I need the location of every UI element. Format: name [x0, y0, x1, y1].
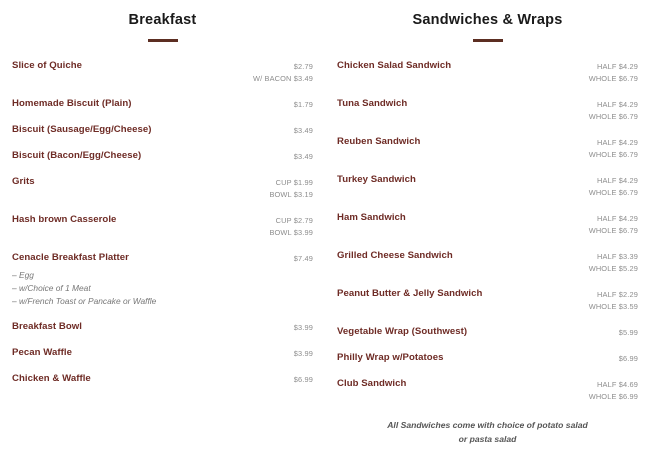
menu-item-price: HALF $4.29	[589, 61, 638, 73]
menu-item-name: Vegetable Wrap (Southwest)	[337, 326, 611, 338]
menu-item: Breakfast Bowl$3.99	[12, 321, 313, 334]
menu-item-price: HALF $4.29	[589, 175, 638, 187]
menu-item-name: Club Sandwich	[337, 378, 581, 390]
menu-item: Biscuit (Sausage/Egg/Cheese)$3.49	[12, 124, 313, 137]
menu-item-price: WHOLE $6.79	[589, 187, 638, 199]
menu-item-price: WHOLE $3.59	[589, 301, 638, 313]
menu-item-name: Chicken & Waffle	[12, 373, 286, 385]
menu-item-price: BOWL $3.19	[269, 189, 313, 201]
section-footer-note-line: All Sandwiches come with choice of potat…	[359, 419, 616, 433]
menu-item-name: Slice of Quiche	[12, 60, 245, 72]
menu-item-price: $2.79	[253, 61, 313, 73]
menu-item-price-block: $6.99	[294, 373, 313, 386]
menu-item: Homemade Biscuit (Plain)$1.79	[12, 98, 313, 111]
menu-item-main: Grits	[12, 176, 269, 188]
menu-item-price-block: $7.49	[294, 252, 313, 265]
section-footer-note: All Sandwiches come with choice of potat…	[337, 419, 638, 447]
menu-item-price-block: $2.79W/ BACON $3.49	[253, 60, 313, 85]
section-header: Sandwiches & Wraps	[337, 0, 638, 42]
menu-item-price: $5.99	[619, 327, 638, 339]
menu-item-price-block: $3.99	[294, 321, 313, 334]
menu-item: Cenacle Breakfast Platter– Egg– w/Choice…	[12, 252, 313, 308]
menu-item-price: $3.49	[294, 151, 313, 163]
menu-item-note: – w/French Toast or Pancake or Waffle	[12, 295, 286, 308]
menu-item: Tuna SandwichHALF $4.29WHOLE $6.79	[337, 98, 638, 123]
menu-item: Ham SandwichHALF $4.29WHOLE $6.79	[337, 212, 638, 237]
menu-item-price: $3.99	[294, 322, 313, 334]
menu-item: GritsCUP $1.99BOWL $3.19	[12, 176, 313, 201]
menu-item-main: Grilled Cheese Sandwich	[337, 250, 589, 262]
menu-item-price: WHOLE $6.99	[589, 391, 638, 403]
menu-item-price: $6.99	[619, 353, 638, 365]
menu-item-main: Ham Sandwich	[337, 212, 589, 224]
section-header: Breakfast	[12, 0, 313, 42]
menu-item-main: Tuna Sandwich	[337, 98, 589, 110]
menu-item-name: Biscuit (Bacon/Egg/Cheese)	[12, 150, 286, 162]
menu-item-price-block: $3.99	[294, 347, 313, 360]
menu-item-main: Chicken Salad Sandwich	[337, 60, 589, 72]
menu-item-name: Pecan Waffle	[12, 347, 286, 359]
menu-item-list: Slice of Quiche$2.79W/ BACON $3.49Homema…	[12, 60, 313, 386]
section-title: Breakfast	[12, 12, 313, 29]
menu-item-name: Turkey Sandwich	[337, 174, 581, 186]
menu-item-main: Turkey Sandwich	[337, 174, 589, 186]
menu-item-price: $3.49	[294, 125, 313, 137]
menu-item: Philly Wrap w/Potatoes$6.99	[337, 352, 638, 365]
menu-item-price: W/ BACON $3.49	[253, 73, 313, 85]
menu-item-price-block: HALF $4.29WHOLE $6.79	[589, 212, 638, 237]
menu-item-price-block: HALF $4.29WHOLE $6.79	[589, 60, 638, 85]
menu-item-main: Reuben Sandwich	[337, 136, 589, 148]
menu-item-price: WHOLE $6.79	[589, 225, 638, 237]
menu-item: Reuben SandwichHALF $4.29WHOLE $6.79	[337, 136, 638, 161]
menu-item-price: BOWL $3.99	[269, 227, 313, 239]
menu-item-price-block: $5.99	[619, 326, 638, 339]
menu-item-price: $1.79	[294, 99, 313, 111]
menu-item-main: Cenacle Breakfast Platter– Egg– w/Choice…	[12, 252, 294, 308]
menu-item-name: Grits	[12, 176, 261, 188]
menu-item-price-block: HALF $4.29WHOLE $6.79	[589, 174, 638, 199]
menu-item-price: HALF $3.39	[589, 251, 638, 263]
menu-item-price: $6.99	[294, 374, 313, 386]
menu-item-main: Hash brown Casserole	[12, 214, 269, 226]
menu-item-name: Cenacle Breakfast Platter	[12, 252, 286, 264]
section-divider-rule	[148, 39, 178, 42]
menu-item-note: – w/Choice of 1 Meat	[12, 282, 286, 295]
menu-item-price: HALF $4.29	[589, 137, 638, 149]
menu-item-main: Vegetable Wrap (Southwest)	[337, 326, 619, 338]
menu-item-main: Biscuit (Bacon/Egg/Cheese)	[12, 150, 294, 162]
menu-item: Vegetable Wrap (Southwest)$5.99	[337, 326, 638, 339]
menu-item-price: WHOLE $6.79	[589, 149, 638, 161]
menu-item-name: Philly Wrap w/Potatoes	[337, 352, 611, 364]
menu-item: Biscuit (Bacon/Egg/Cheese)$3.49	[12, 150, 313, 163]
menu-item: Pecan Waffle$3.99	[12, 347, 313, 360]
menu-column: BreakfastSlice of Quiche$2.79W/ BACON $3…	[0, 0, 325, 449]
menu-item-price: HALF $4.29	[589, 99, 638, 111]
menu-item-price: HALF $4.29	[589, 213, 638, 225]
section-footer-note-line: or pasta salad	[359, 433, 616, 447]
menu-item-price: WHOLE $6.79	[589, 111, 638, 123]
menu-item-price: $7.49	[294, 253, 313, 265]
menu-item-price: HALF $2.29	[589, 289, 638, 301]
menu-item-notes: – Egg– w/Choice of 1 Meat– w/French Toas…	[12, 269, 286, 308]
menu-item-main: Pecan Waffle	[12, 347, 294, 359]
menu-item-name: Tuna Sandwich	[337, 98, 581, 110]
menu-item: Turkey SandwichHALF $4.29WHOLE $6.79	[337, 174, 638, 199]
menu-item-main: Slice of Quiche	[12, 60, 253, 72]
menu-item-name: Ham Sandwich	[337, 212, 581, 224]
menu-board: BreakfastSlice of Quiche$2.79W/ BACON $3…	[0, 0, 650, 449]
menu-item-price-block: HALF $4.29WHOLE $6.79	[589, 136, 638, 161]
menu-item-price: WHOLE $5.29	[589, 263, 638, 275]
menu-item-name: Reuben Sandwich	[337, 136, 581, 148]
menu-item-price: $3.99	[294, 348, 313, 360]
menu-item-list: Chicken Salad SandwichHALF $4.29WHOLE $6…	[337, 60, 638, 403]
menu-item-price: WHOLE $6.79	[589, 73, 638, 85]
menu-item-price-block: CUP $2.79BOWL $3.99	[269, 214, 313, 239]
menu-item-name: Breakfast Bowl	[12, 321, 286, 333]
menu-item-note: – Egg	[12, 269, 286, 282]
menu-item-price-block: $6.99	[619, 352, 638, 365]
menu-item-main: Chicken & Waffle	[12, 373, 294, 385]
menu-item: Club SandwichHALF $4.69WHOLE $6.99	[337, 378, 638, 403]
menu-item-name: Peanut Butter & Jelly Sandwich	[337, 288, 581, 300]
menu-item-price: CUP $1.99	[269, 177, 313, 189]
menu-item-main: Club Sandwich	[337, 378, 589, 390]
menu-item: Chicken Salad SandwichHALF $4.29WHOLE $6…	[337, 60, 638, 85]
menu-item: Slice of Quiche$2.79W/ BACON $3.49	[12, 60, 313, 85]
menu-item-name: Chicken Salad Sandwich	[337, 60, 581, 72]
menu-item-price-block: $3.49	[294, 124, 313, 137]
menu-item-main: Homemade Biscuit (Plain)	[12, 98, 294, 110]
menu-item-price-block: $3.49	[294, 150, 313, 163]
menu-item-price-block: HALF $3.39WHOLE $5.29	[589, 250, 638, 275]
menu-item-name: Biscuit (Sausage/Egg/Cheese)	[12, 124, 286, 136]
section-title: Sandwiches & Wraps	[337, 12, 638, 29]
menu-item: Chicken & Waffle$6.99	[12, 373, 313, 386]
menu-item: Grilled Cheese SandwichHALF $3.39WHOLE $…	[337, 250, 638, 275]
menu-item-price-block: $1.79	[294, 98, 313, 111]
menu-item: Hash brown CasseroleCUP $2.79BOWL $3.99	[12, 214, 313, 239]
menu-item-name: Homemade Biscuit (Plain)	[12, 98, 286, 110]
menu-item-price: CUP $2.79	[269, 215, 313, 227]
menu-item-main: Peanut Butter & Jelly Sandwich	[337, 288, 589, 300]
menu-column: Sandwiches & WrapsChicken Salad Sandwich…	[325, 0, 650, 449]
section-divider-rule	[473, 39, 503, 42]
menu-item-price-block: HALF $4.69WHOLE $6.99	[589, 378, 638, 403]
menu-item-main: Breakfast Bowl	[12, 321, 294, 333]
menu-item-name: Grilled Cheese Sandwich	[337, 250, 581, 262]
menu-item-main: Biscuit (Sausage/Egg/Cheese)	[12, 124, 294, 136]
menu-item-main: Philly Wrap w/Potatoes	[337, 352, 619, 364]
menu-item-price-block: HALF $2.29WHOLE $3.59	[589, 288, 638, 313]
menu-item-price: HALF $4.69	[589, 379, 638, 391]
menu-item-name: Hash brown Casserole	[12, 214, 261, 226]
menu-item-price-block: CUP $1.99BOWL $3.19	[269, 176, 313, 201]
menu-item-price-block: HALF $4.29WHOLE $6.79	[589, 98, 638, 123]
menu-item: Peanut Butter & Jelly SandwichHALF $2.29…	[337, 288, 638, 313]
